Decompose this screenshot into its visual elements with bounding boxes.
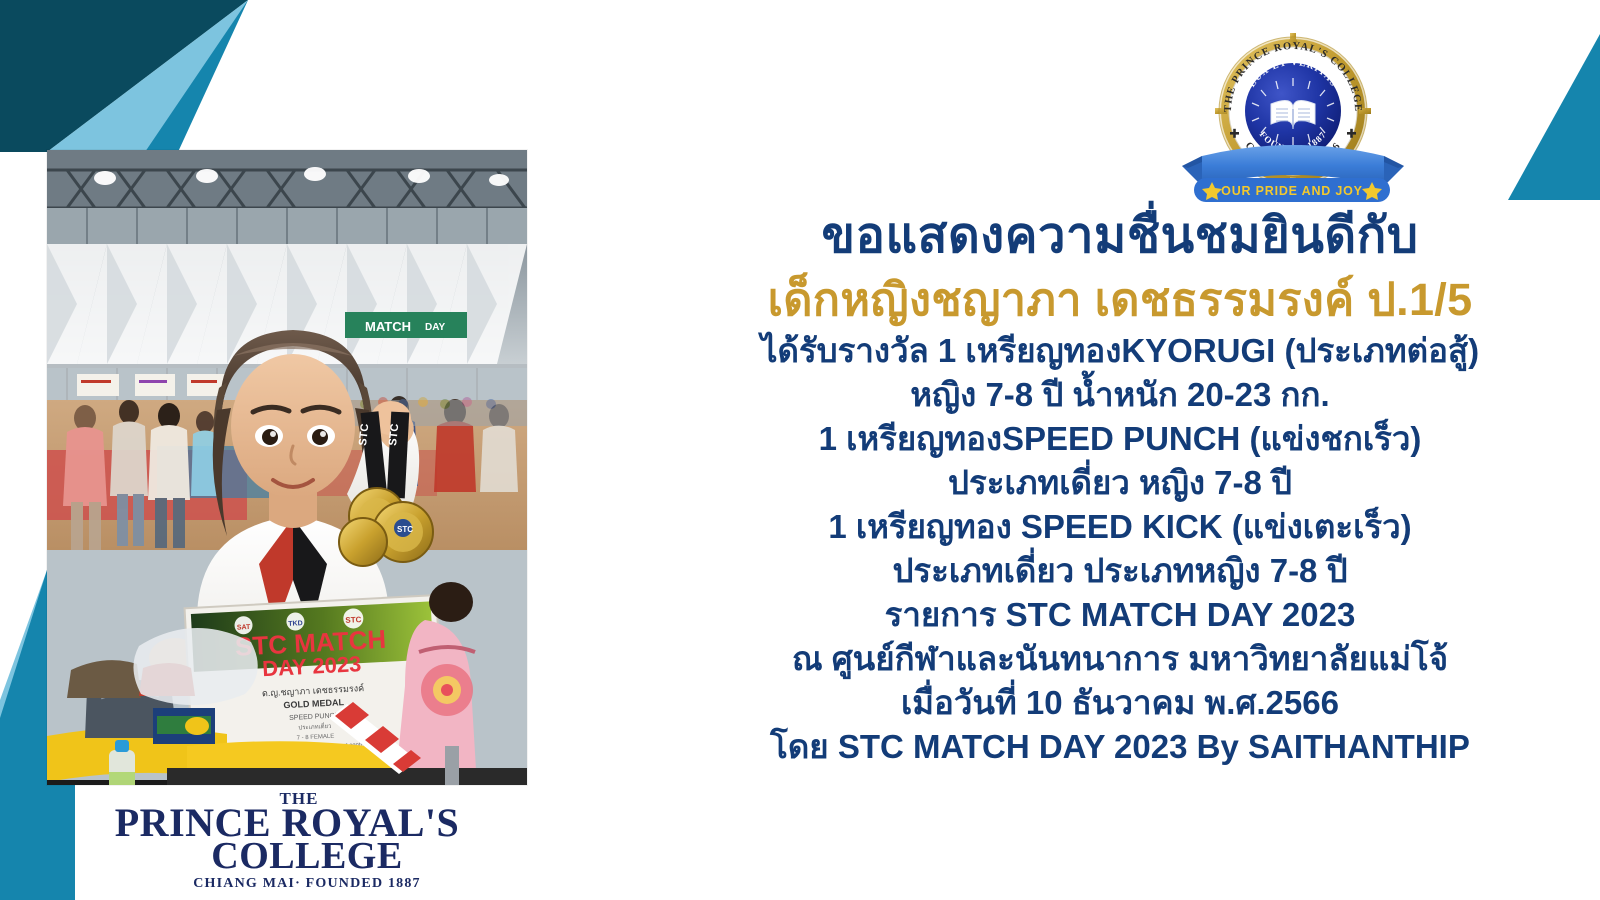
crest-pride-banner: OUR PRIDE AND JOY: [1194, 178, 1390, 202]
event-name-line: รายการ STC MATCH DAY 2023: [640, 598, 1600, 631]
achievement-line-2: หญิง 7-8 ปี น้ำหนัก 20-23 กก.: [640, 378, 1600, 411]
achievement-line-3: 1 เหรียญทองSPEED PUNCH (แข่งชกเร็ว): [640, 422, 1600, 455]
headline: ขอแสดงความชื่นชมยินดีกับ: [640, 212, 1600, 261]
footer-wordmark: THE PRINCE ROYAL'S COLLEGE CHIANG MAI· F…: [47, 790, 527, 891]
congratulations-poster: MATCH DAY: [0, 0, 1600, 900]
date-line: เมื่อวันที่ 10 ธันวาคม พ.ศ.2566: [640, 686, 1600, 719]
congratulations-text-block: ขอแสดงความชื่นชมยินดีกับ เด็กหญิงชญาภา เ…: [640, 212, 1600, 774]
svg-text:STC: STC: [357, 423, 371, 446]
svg-text:DAY: DAY: [425, 322, 446, 333]
achievement-line-5: 1 เหรียญทอง SPEED KICK (แข่งเตะเร็ว): [640, 510, 1600, 543]
achievement-line-4: ประเภทเดี่ยว หญิง 7-8 ปี: [640, 466, 1600, 499]
svg-text:STC: STC: [387, 423, 401, 446]
crest-ribbon-text: OUR PRIDE AND JOY: [1221, 184, 1363, 198]
student-name: เด็กหญิงชญาภา เดชธรรมรงค์ ป.1/5: [640, 277, 1600, 322]
school-crest: THE PRINCE ROYAL'S COLLEGE CHIANG MAI 19…: [1168, 6, 1468, 206]
svg-text:STC: STC: [345, 615, 362, 625]
organizer-line: โดย STC MATCH DAY 2023 By SAITHANTHIP: [640, 730, 1600, 763]
photo-illustration: MATCH DAY: [47, 150, 527, 785]
wordmark-chiang-mai-founded: CHIANG MAI· FOUNDED 1887: [87, 877, 527, 891]
achievement-line-1: ได้รับรางวัล 1 เหรียญทองKYORUGI (ประเภทต…: [640, 334, 1600, 367]
achievement-line-6: ประเภทเดี่ยว ประเภทหญิง 7-8 ปี: [640, 554, 1600, 587]
svg-text:STC: STC: [397, 525, 413, 534]
student-photo: MATCH DAY: [47, 150, 527, 785]
photo-banner-text: MATCH: [365, 319, 411, 334]
venue-line: ณ ศูนย์กีฬาและนันทนาการ มหาวิทยาลัยแม่โจ…: [640, 642, 1600, 675]
certificate-subtitle: DAY 2023: [262, 651, 362, 681]
svg-text:TKD: TKD: [288, 620, 303, 628]
